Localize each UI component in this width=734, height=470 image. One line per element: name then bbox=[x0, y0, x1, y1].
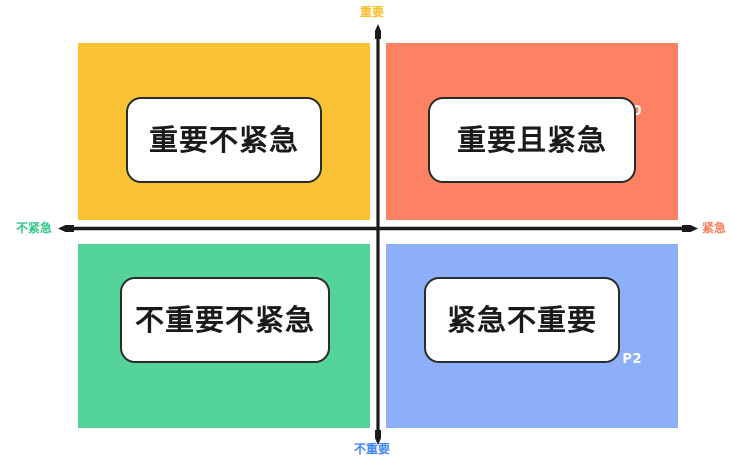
quadrant-card-p3[interactable]: 不重要不紧急 bbox=[120, 277, 330, 363]
arrow-left-right-icon bbox=[58, 225, 698, 232]
quadrant-card-label-p1: 重要不紧急 bbox=[149, 126, 299, 155]
priority-tag-p2: P2 bbox=[622, 353, 642, 366]
horizontal-axis bbox=[58, 225, 698, 232]
axis-label-not-important: 不重要 bbox=[354, 443, 390, 455]
quadrant-card-p1[interactable]: 重要不紧急 bbox=[126, 97, 322, 183]
axis-label-important: 重要 bbox=[360, 6, 384, 18]
vertical-axis bbox=[375, 24, 381, 445]
quadrant-diagram-canvas: P1 P0 P3 P2 重要不紧急 重要且紧急 不重要不紧急 紧急不重要 bbox=[0, 0, 734, 470]
quadrant-card-p0[interactable]: 重要且紧急 bbox=[428, 97, 636, 183]
axis-label-urgent: 紧急 bbox=[702, 222, 726, 234]
quadrant-card-label-p3: 不重要不紧急 bbox=[135, 306, 315, 335]
quadrant-card-p2[interactable]: 紧急不重要 bbox=[424, 277, 620, 363]
quadrant-card-label-p0: 重要且紧急 bbox=[457, 126, 607, 155]
quadrant-card-label-p2: 紧急不重要 bbox=[447, 306, 597, 335]
axis-label-not-urgent: 不紧急 bbox=[16, 222, 52, 234]
arrow-up-down-icon bbox=[375, 24, 381, 445]
